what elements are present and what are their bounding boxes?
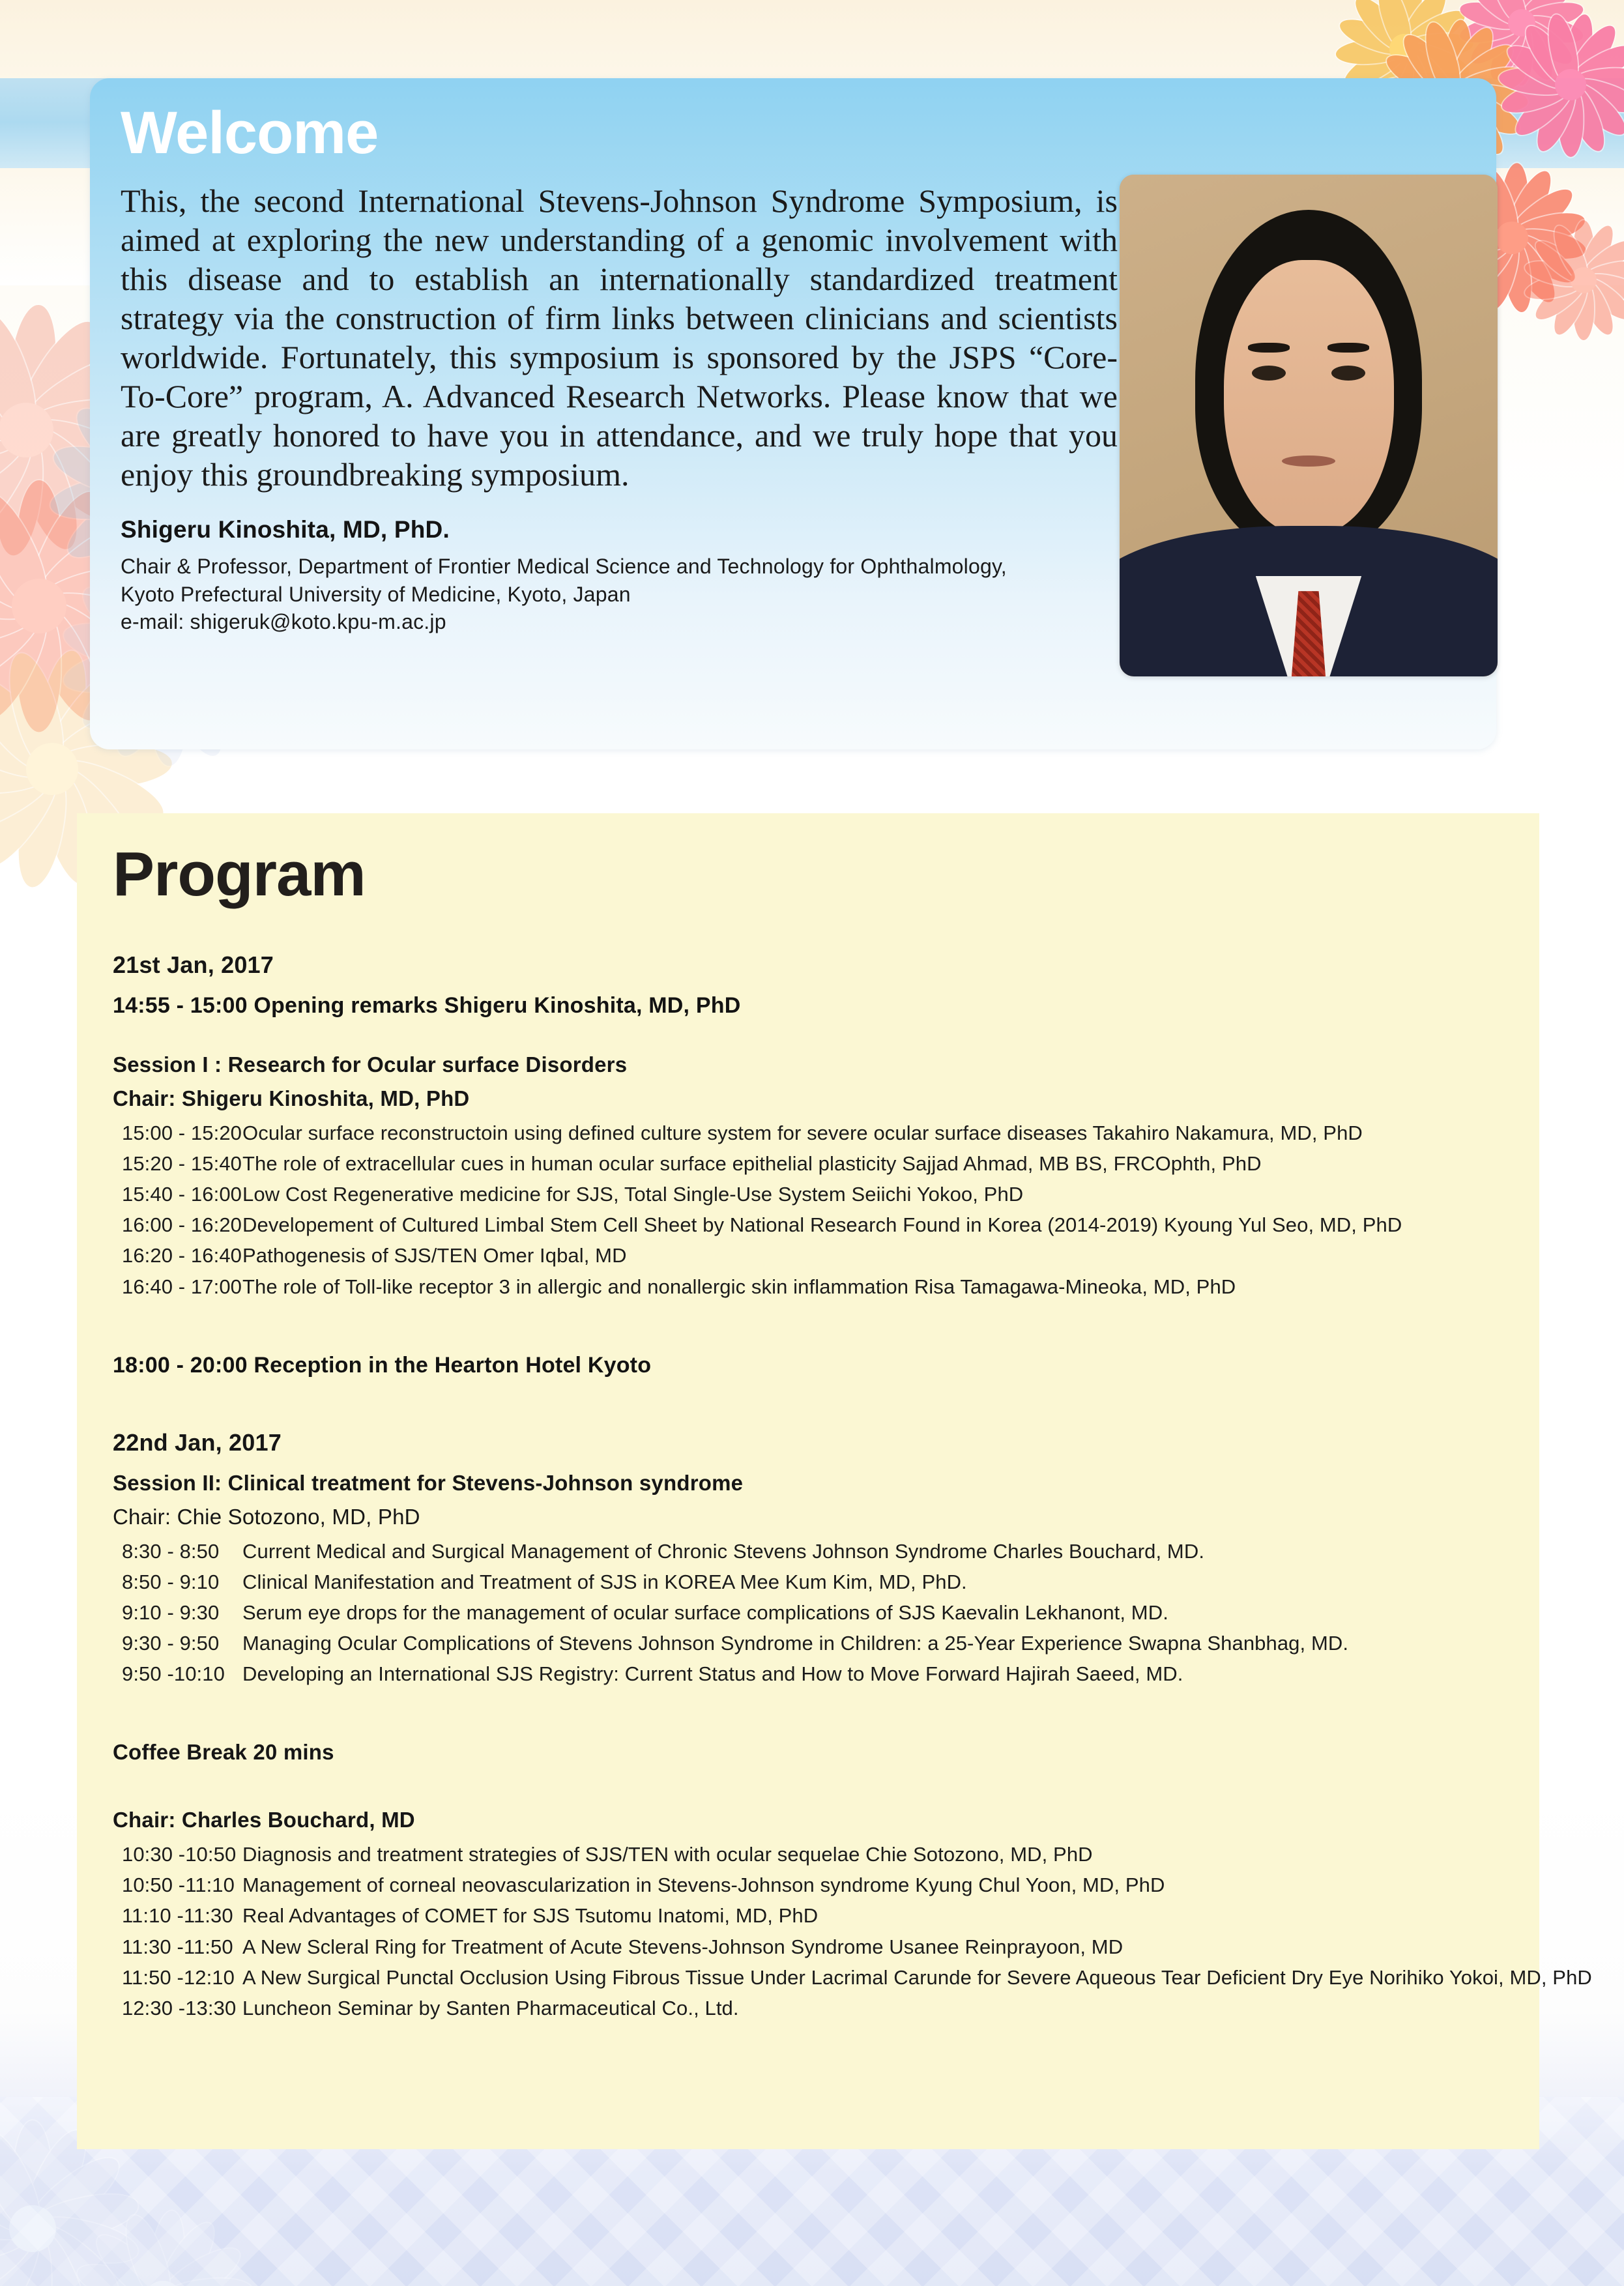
talk-row: 15:00 - 15:20Ocular surface reconstructo… xyxy=(113,1118,1520,1148)
talk-title: Real Advantages of COMET for SJS Tsutomu… xyxy=(242,1900,818,1931)
talk-title: Low Cost Regenerative medicine for SJS, … xyxy=(242,1179,1023,1209)
talk-time: 11:50 -12:10 xyxy=(113,1962,242,1993)
session-2-late-talk-list: 10:30 -10:50Diagnosis and treatment stra… xyxy=(113,1839,1520,2023)
talk-row: 15:40 - 16:00Low Cost Regenerative medic… xyxy=(113,1179,1520,1209)
talk-time: 9:10 - 9:30 xyxy=(113,1597,242,1628)
talk-row: 10:50 -11:10Management of corneal neovas… xyxy=(113,1870,1520,1900)
coffee-break: Coffee Break 20 mins xyxy=(113,1740,1520,1765)
session-2-chair: Chair: Chie Sotozono, MD, PhD xyxy=(113,1505,1520,1529)
talk-row: 16:00 - 16:20Developement of Cultured Li… xyxy=(113,1209,1520,1240)
talk-title: Clinical Manifestation and Treatment of … xyxy=(242,1567,967,1597)
session-2-title: Session II: Clinical treatment for Steve… xyxy=(113,1471,1520,1496)
talk-time: 9:50 -10:10 xyxy=(113,1658,242,1689)
talk-title: Ocular surface reconstructoin using defi… xyxy=(242,1118,1363,1148)
session-2-chair-2: Chair: Charles Bouchard, MD xyxy=(113,1808,1520,1832)
talk-time: 16:40 - 17:00 xyxy=(113,1271,242,1302)
talk-title: A New Scleral Ring for Treatment of Acut… xyxy=(242,1932,1123,1962)
session-1-title: Session I : Research for Ocular surface … xyxy=(113,1052,1520,1077)
day1-reception: 18:00 - 20:00 Reception in the Hearton H… xyxy=(113,1353,1520,1378)
talk-title: Diagnosis and treatment strategies of SJ… xyxy=(242,1839,1093,1870)
talk-title: The role of Toll-like receptor 3 in alle… xyxy=(242,1271,1236,1302)
talk-title: Developing an International SJS Registry… xyxy=(242,1658,1183,1689)
talk-title: The role of extracellular cues in human … xyxy=(242,1148,1262,1179)
top-cream-strip xyxy=(0,0,1624,80)
talk-time: 15:20 - 15:40 xyxy=(113,1148,242,1179)
talk-row: 8:30 - 8:50Current Medical and Surgical … xyxy=(113,1536,1520,1567)
talk-row: 11:10 -11:30Real Advantages of COMET for… xyxy=(113,1900,1520,1931)
chairman-portrait-photo xyxy=(1120,175,1498,676)
welcome-title: Welcome xyxy=(121,103,1470,163)
session-1-talk-list: 15:00 - 15:20Ocular surface reconstructo… xyxy=(113,1118,1520,1302)
talk-row: 9:10 - 9:30Serum eye drops for the manag… xyxy=(113,1597,1520,1628)
talk-row: 11:50 -12:10A New Surgical Punctal Occlu… xyxy=(113,1962,1520,1993)
talk-time: 9:30 - 9:50 xyxy=(113,1628,242,1658)
talk-row: 10:30 -10:50Diagnosis and treatment stra… xyxy=(113,1839,1520,1870)
talk-time: 16:20 - 16:40 xyxy=(113,1240,242,1271)
talk-title: Managing Ocular Complications of Stevens… xyxy=(242,1628,1348,1658)
talk-row: 16:20 - 16:40Pathogenesis of SJS/TEN Ome… xyxy=(113,1240,1520,1271)
talk-title: A New Surgical Punctal Occlusion Using F… xyxy=(242,1962,1592,1993)
talk-title: Luncheon Seminar by Santen Pharmaceutica… xyxy=(242,1993,739,2023)
talk-title: Current Medical and Surgical Management … xyxy=(242,1536,1204,1567)
talk-row: 16:40 - 17:00The role of Toll-like recep… xyxy=(113,1271,1520,1302)
day1-opening-remarks: 14:55 - 15:00 Opening remarks Shigeru Ki… xyxy=(113,993,1520,1019)
program-panel: Program 21st Jan, 2017 14:55 - 15:00 Ope… xyxy=(77,813,1539,2149)
talk-row: 15:20 - 15:40The role of extracellular c… xyxy=(113,1148,1520,1179)
talk-time: 8:30 - 8:50 xyxy=(113,1536,242,1567)
talk-time: 15:00 - 15:20 xyxy=(113,1118,242,1148)
talk-row: 12:30 -13:30Luncheon Seminar by Santen P… xyxy=(113,1993,1520,2023)
talk-time: 16:00 - 16:20 xyxy=(113,1209,242,1240)
welcome-body-text: This, the second International Stevens-J… xyxy=(121,181,1118,494)
talk-time: 12:30 -13:30 xyxy=(113,1993,242,2023)
poster-page: Welcome This, the second International S… xyxy=(0,0,1624,2286)
session-1-chair: Chair: Shigeru Kinoshita, MD, PhD xyxy=(113,1086,1520,1111)
program-title: Program xyxy=(113,843,1520,906)
talk-row: 9:50 -10:10Developing an International S… xyxy=(113,1658,1520,1689)
talk-row: 8:50 - 9:10Clinical Manifestation and Tr… xyxy=(113,1567,1520,1597)
day2-date: 22nd Jan, 2017 xyxy=(113,1429,1520,1456)
talk-title: Management of corneal neovascularization… xyxy=(242,1870,1165,1900)
talk-title: Pathogenesis of SJS/TEN Omer Iqbal, MD xyxy=(242,1240,627,1271)
talk-title: Serum eye drops for the management of oc… xyxy=(242,1597,1168,1628)
day1-date: 21st Jan, 2017 xyxy=(113,951,1520,979)
talk-row: 9:30 - 9:50Managing Ocular Complications… xyxy=(113,1628,1520,1658)
talk-time: 10:30 -10:50 xyxy=(113,1839,242,1870)
talk-title: Developement of Cultured Limbal Stem Cel… xyxy=(242,1209,1402,1240)
talk-time: 10:50 -11:10 xyxy=(113,1870,242,1900)
talk-time: 11:30 -11:50 xyxy=(113,1932,242,1962)
talk-time: 15:40 - 16:00 xyxy=(113,1179,242,1209)
session-2-morning-talk-list: 8:30 - 8:50Current Medical and Surgical … xyxy=(113,1536,1520,1690)
talk-time: 11:10 -11:30 xyxy=(113,1900,242,1931)
talk-time: 8:50 - 9:10 xyxy=(113,1567,242,1597)
talk-row: 11:30 -11:50A New Scleral Ring for Treat… xyxy=(113,1932,1520,1962)
